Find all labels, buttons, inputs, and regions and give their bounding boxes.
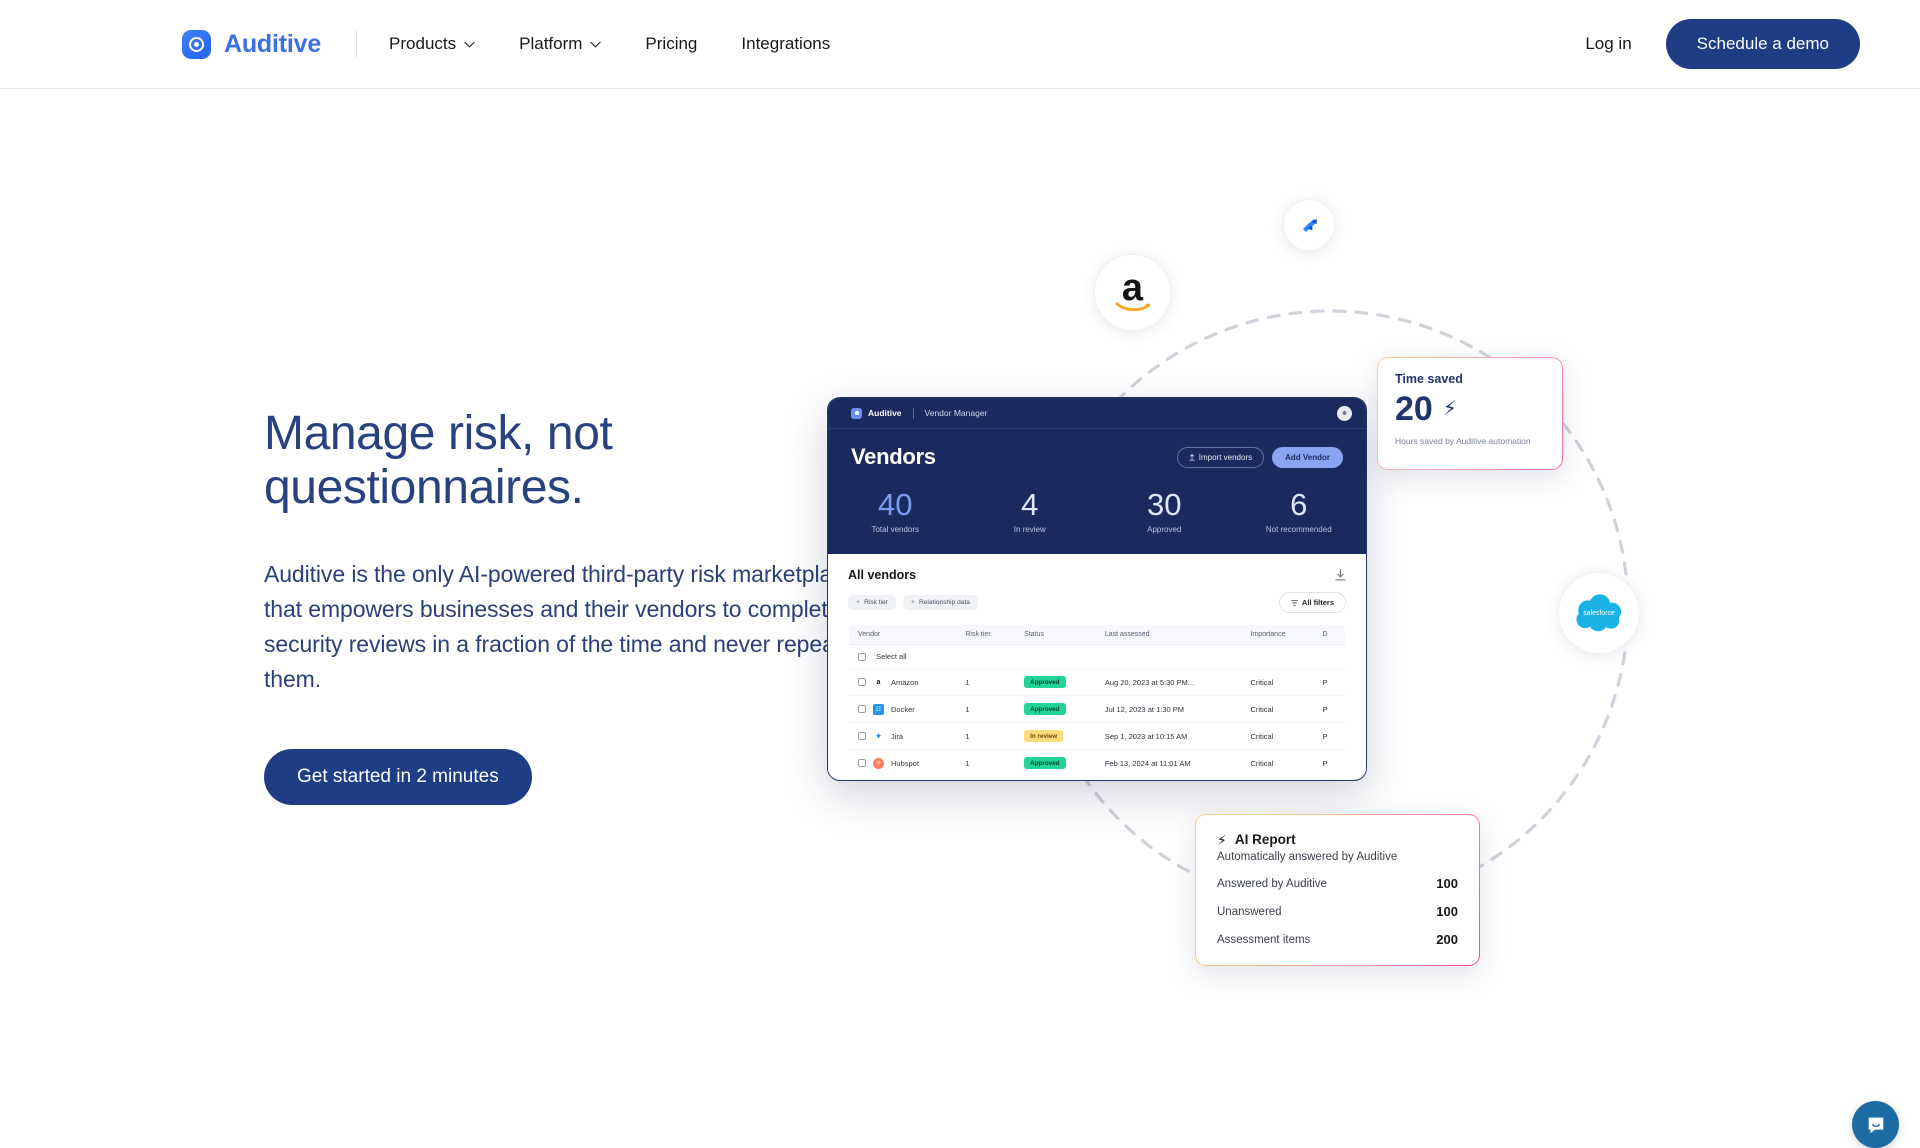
checkbox-icon[interactable] <box>858 678 866 686</box>
stat-value: 40 <box>828 488 963 522</box>
ai-report-line-label: Unanswered <box>1217 906 1282 918</box>
checkbox-icon[interactable] <box>858 653 866 661</box>
hero-artwork: a <box>900 209 1760 1009</box>
ai-report-line-label: Answered by Auditive <box>1217 878 1327 890</box>
filter-row: + Risk tier + Relationship data All filt… <box>848 592 1346 613</box>
download-icon[interactable] <box>1335 569 1346 581</box>
vendor-name: Docker <box>891 705 915 714</box>
orbit-logo-salesforce: salesforce <box>1558 572 1640 654</box>
all-vendors-title: All vendors <box>848 568 916 582</box>
nav-item-label: Products <box>389 34 456 54</box>
cell-importance: Critical <box>1241 669 1313 696</box>
chat-widget-button[interactable] <box>1852 1101 1899 1148</box>
plus-icon: + <box>911 599 915 606</box>
orbit-logo-jira <box>1283 199 1335 251</box>
stat-label: Total vendors <box>828 525 963 534</box>
ai-report-line: Unanswered 100 <box>1217 904 1458 919</box>
time-saved-card: Time saved 20 ⚡ Hours saved by Auditive … <box>1377 357 1563 470</box>
nav-item-products[interactable]: Products <box>389 24 497 64</box>
stat-value: 6 <box>1232 488 1367 522</box>
chevron-down-icon <box>464 41 475 48</box>
table-row[interactable]: ☷ Docker 1 Approved Jul 12, 2023 at 1:30… <box>849 696 1346 723</box>
select-all-row[interactable]: Select all <box>849 645 1346 669</box>
ai-report-line-value: 100 <box>1436 876 1458 891</box>
col-vendor[interactable]: Vendor <box>849 625 957 645</box>
brand-name: Auditive <box>224 30 321 59</box>
cell-last-assessed: Sep 1, 2023 at 10:15 AM <box>1096 723 1242 750</box>
nav-item-platform[interactable]: Platform <box>497 24 623 64</box>
dashboard-section-label: Vendor Manager <box>925 408 988 418</box>
checkbox-icon[interactable] <box>858 759 866 767</box>
col-last-assessed[interactable]: Last assessed <box>1096 625 1242 645</box>
page-title: Manage risk, not questionnaires. <box>264 407 884 515</box>
table-header-row: Vendor Risk tier Status Last assessed Im… <box>849 625 1346 645</box>
ai-report-line-value: 100 <box>1436 904 1458 919</box>
dashboard-page-title: Vendors <box>851 444 936 470</box>
cell-d: P <box>1313 696 1345 723</box>
filter-chip-relationship-data[interactable]: + Relationship data <box>903 595 978 610</box>
table-row[interactable]: a Amazon 1 Approved Aug 20, 2023 at 5:30… <box>849 669 1346 696</box>
schedule-demo-button[interactable]: Schedule a demo <box>1666 19 1860 69</box>
auditive-target-icon <box>851 408 862 419</box>
stat-value: 30 <box>1097 488 1232 522</box>
stat-label: Not recommended <box>1232 525 1367 534</box>
checkbox-icon[interactable] <box>858 705 866 713</box>
dashboard-actions: Import vendors Add Vendor <box>1177 447 1343 468</box>
chat-bubble-icon <box>1865 1114 1887 1136</box>
vendor-manager-dashboard: Auditive Vendor Manager ☻ Vendors Import <box>827 397 1367 781</box>
status-badge: In review <box>1024 730 1063 742</box>
cell-risk-tier: 1 <box>956 669 1015 696</box>
main-nav: Products Platform Pricing Integrations <box>389 24 852 64</box>
status-badge: Approved <box>1024 676 1065 688</box>
stat-label: Approved <box>1097 525 1232 534</box>
dashboard-stats: 40 Total vendors 4 In review 30 Approved… <box>828 474 1366 554</box>
chevron-down-icon <box>590 41 601 48</box>
plus-icon: + <box>856 599 860 606</box>
salesforce-icon: salesforce <box>1573 594 1625 632</box>
table-row[interactable]: ⚛ Hubspot 1 Approved Feb 13, 2024 at 11:… <box>849 750 1346 777</box>
ai-report-title: AI Report <box>1235 832 1296 847</box>
ai-report-card: ⚡ AI Report Automatically answered by Au… <box>1195 814 1480 966</box>
import-vendors-label: Import vendors <box>1199 453 1252 462</box>
cell-d: P <box>1313 723 1345 750</box>
checkbox-icon[interactable] <box>858 732 866 740</box>
cell-importance: Critical <box>1241 723 1313 750</box>
nav-item-pricing[interactable]: Pricing <box>623 24 719 64</box>
cell-importance: Critical <box>1241 750 1313 777</box>
dashboard-topbar: Auditive Vendor Manager ☻ <box>828 398 1366 429</box>
hero-section: Manage risk, not questionnaires. Auditiv… <box>0 89 1920 1080</box>
all-filters-label: All filters <box>1302 598 1334 607</box>
lightning-bolt-icon: ⚡ <box>1443 399 1457 419</box>
hero-copy: Manage risk, not questionnaires. Auditiv… <box>264 407 884 805</box>
cell-risk-tier: 1 <box>956 696 1015 723</box>
vendor-name: Hubspot <box>891 759 919 768</box>
nav-item-integrations[interactable]: Integrations <box>719 24 852 64</box>
ai-report-subtitle: Automatically answered by Auditive <box>1217 851 1458 863</box>
upload-icon <box>1189 454 1195 461</box>
cell-risk-tier: 1 <box>956 723 1015 750</box>
stat-value: 4 <box>963 488 1098 522</box>
filter-icon <box>1291 600 1298 606</box>
orbit-logo-amazon: a <box>1094 254 1171 331</box>
nav-item-label: Integrations <box>741 34 830 54</box>
stat-in-review: 4 In review <box>963 488 1098 534</box>
time-saved-caption: Hours saved by Auditive automation <box>1395 436 1545 446</box>
table-row[interactable]: ✦ Jira 1 In review Sep 1, 2023 at 10:15 … <box>849 723 1346 750</box>
header-divider <box>356 30 357 58</box>
stat-total-vendors: 40 Total vendors <box>828 488 963 534</box>
filter-chip-risk-tier[interactable]: + Risk tier <box>848 595 896 610</box>
vendor-name: Jira <box>891 732 903 741</box>
stat-not-recommended: 6 Not recommended <box>1232 488 1367 534</box>
cell-importance: Critical <box>1241 696 1313 723</box>
ai-report-line: Answered by Auditive 100 <box>1217 876 1458 891</box>
cell-last-assessed: Jul 12, 2023 at 1:30 PM <box>1096 696 1242 723</box>
status-badge: Approved <box>1024 703 1065 715</box>
filter-chip-label: Risk tier <box>864 599 888 606</box>
jira-icon: ✦ <box>873 731 884 742</box>
filter-chip-label: Relationship data <box>919 599 970 606</box>
auditive-target-icon <box>182 30 211 59</box>
brand-logo-link[interactable]: Auditive <box>182 30 321 59</box>
amazon-icon: a <box>1112 272 1154 314</box>
status-badge: Approved <box>1024 757 1065 769</box>
ai-report-line-label: Assessment items <box>1217 934 1310 946</box>
vendors-table: Select all Vendor Risk tier Status Last … <box>848 624 1346 777</box>
ai-report-line: Assessment items 200 <box>1217 932 1458 947</box>
get-started-button[interactable]: Get started in 2 minutes <box>264 749 532 805</box>
svg-text:salesforce: salesforce <box>1583 610 1615 617</box>
hero-subtitle: Auditive is the only AI-powered third-pa… <box>264 557 864 697</box>
col-d[interactable]: D <box>1313 625 1345 645</box>
site-header: Auditive Products Platform Pricing Integ… <box>0 0 1920 89</box>
dashboard-header: Auditive Vendor Manager ☻ Vendors Import <box>828 398 1366 554</box>
cell-risk-tier: 1 <box>956 750 1015 777</box>
col-status[interactable]: Status <box>1015 625 1096 645</box>
col-importance[interactable]: Importance <box>1241 625 1313 645</box>
amazon-icon: a <box>873 677 884 688</box>
nav-item-label: Platform <box>519 34 582 54</box>
lightning-bolt-icon: ⚡ <box>1217 833 1227 847</box>
vendor-name: Amazon <box>891 678 919 687</box>
header-actions: Log in Schedule a demo <box>1571 19 1860 69</box>
col-risk-tier[interactable]: Risk tier <box>956 625 1015 645</box>
all-vendors-row: All vendors <box>848 568 1346 582</box>
cell-last-assessed: Feb 13, 2024 at 11:01 AM <box>1096 750 1242 777</box>
dashboard-brand-name: Auditive <box>868 408 902 418</box>
stat-approved: 30 Approved <box>1097 488 1232 534</box>
dashboard-title-row: Vendors Import vendors Add Vendor <box>828 429 1366 474</box>
nav-item-label: Pricing <box>645 34 697 54</box>
hubspot-icon: ⚛ <box>873 758 884 769</box>
docker-icon: ☷ <box>873 704 884 715</box>
add-vendor-button[interactable]: Add Vendor <box>1272 447 1343 468</box>
stat-label: In review <box>963 525 1098 534</box>
dashboard-brand: Auditive Vendor Manager <box>851 408 987 419</box>
user-avatar-icon[interactable]: ☻ <box>1337 406 1352 421</box>
time-saved-value: 20 <box>1395 392 1433 426</box>
import-vendors-button[interactable]: Import vendors <box>1177 447 1264 468</box>
cell-d: P <box>1313 750 1345 777</box>
time-saved-title: Time saved <box>1395 372 1545 386</box>
ai-report-line-value: 200 <box>1436 932 1458 947</box>
dashboard-brand-divider <box>913 408 914 419</box>
login-link[interactable]: Log in <box>1571 26 1645 62</box>
all-filters-button[interactable]: All filters <box>1279 592 1346 613</box>
dashboard-body: All vendors + Risk tier + Relationship d… <box>828 554 1366 777</box>
jira-icon <box>1298 214 1321 237</box>
cell-d: P <box>1313 669 1345 696</box>
select-all-label: Select all <box>876 652 906 661</box>
cell-last-assessed: Aug 20, 2023 at 5:30 PM... <box>1096 669 1242 696</box>
